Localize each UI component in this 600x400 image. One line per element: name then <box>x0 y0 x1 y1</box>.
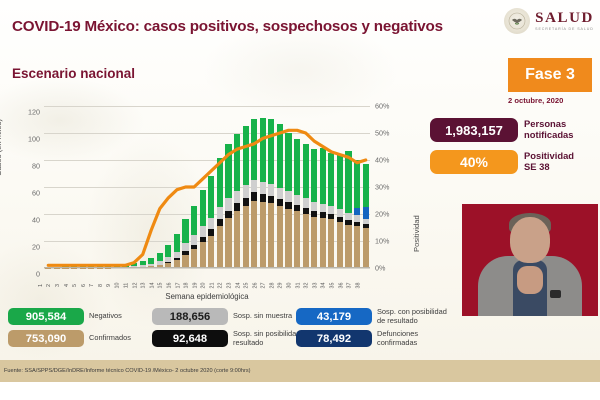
x-axis-title: Semana epidemiológica <box>44 292 370 301</box>
stacked-bar[interactable] <box>182 219 188 268</box>
bar-segment <box>294 211 300 268</box>
stacked-bar[interactable] <box>157 252 163 268</box>
bar-segment <box>260 182 266 194</box>
stacked-bar[interactable] <box>234 134 240 268</box>
bar-segment <box>260 202 266 268</box>
interpreter-hands <box>517 266 543 294</box>
bar-segment <box>174 234 180 252</box>
stacked-bar[interactable] <box>208 176 214 268</box>
stat-label: Negativos <box>89 312 122 321</box>
summary-stats: 905,584Negativos753,090Confirmados188,65… <box>0 306 452 358</box>
source-footer: Fuente: SSA/SPPS/DGE/InDRE/Informe técni… <box>0 360 600 382</box>
stacked-bar[interactable] <box>200 190 206 268</box>
stacked-bar[interactable] <box>225 144 231 268</box>
sign-language-interpreter-video[interactable] <box>462 204 598 316</box>
bar-slot <box>181 106 190 268</box>
bar-segment <box>217 219 223 226</box>
bar-segment <box>243 126 249 185</box>
logo-subtitle: SECRETARÍA DE SALUD <box>535 28 594 32</box>
bar-slot <box>190 106 199 268</box>
source-text: Fuente: SSA/SPPS/DGE/InDRE/Informe técni… <box>0 368 251 374</box>
bar-slot <box>258 106 267 268</box>
stat-label: Defunciones confirmadas <box>377 330 452 347</box>
stacked-bar[interactable] <box>354 160 360 268</box>
stacked-bar[interactable] <box>251 119 257 268</box>
bar-segment <box>285 133 291 191</box>
stacked-bar[interactable] <box>277 124 283 268</box>
bar-segment <box>354 226 360 268</box>
plot-area <box>44 106 370 268</box>
kpi-label: Personas notificadas <box>524 119 574 140</box>
interpreter-head <box>510 217 550 263</box>
y2-tick-label: 0% <box>375 264 385 273</box>
bar-slot <box>361 106 370 268</box>
bar-segment <box>217 158 223 207</box>
y2-tick-label: 40% <box>375 156 389 165</box>
bar-segment <box>294 195 300 205</box>
bar-slot <box>353 106 362 268</box>
y-tick-label: 40 <box>32 216 40 225</box>
bar-slot <box>113 106 122 268</box>
kpi-value: 40% <box>430 150 518 174</box>
bar-slot <box>241 106 250 268</box>
slide-root: COVID-19 México: casos positivos, sospec… <box>0 0 600 400</box>
stacked-bar[interactable] <box>243 126 249 268</box>
stat-item: 43,179Sosp. con posibilidad de resultado <box>296 308 452 325</box>
bar-segment <box>303 198 309 208</box>
logo-wordmark: SALUD <box>535 11 594 26</box>
bar-segment <box>345 213 351 220</box>
bar-segment <box>320 204 326 213</box>
interpreter-watch <box>550 290 561 298</box>
stacked-bar[interactable] <box>285 133 291 268</box>
bar-slot <box>78 106 87 268</box>
bar-slot <box>293 106 302 268</box>
stat-value: 78,492 <box>296 330 372 347</box>
bar-slot <box>138 106 147 268</box>
bar-segment <box>268 119 274 184</box>
kpi-label: Positividad SE 38 <box>524 151 574 172</box>
covid-chart: 020406080100120 Casos (en miles) 0%10%20… <box>8 100 420 300</box>
bar-segment <box>345 151 351 213</box>
stacked-bar[interactable] <box>268 119 274 268</box>
bar-slot <box>173 106 182 268</box>
bar-series-container <box>44 106 370 268</box>
bar-slot <box>224 106 233 268</box>
bar-segment <box>217 226 223 268</box>
bar-segment <box>200 190 206 226</box>
bar-segment <box>303 144 309 198</box>
y-tick-label: 60 <box>32 189 40 198</box>
bar-slot <box>87 106 96 268</box>
mexican-eagle-emblem-icon <box>504 8 530 34</box>
bar-segment <box>311 149 317 202</box>
y-axis-left-title: Casos (en miles) <box>0 119 3 176</box>
y-axis-left-labels: 020406080100120 <box>8 106 40 268</box>
bar-segment <box>217 207 223 219</box>
x-tick-label: 38 <box>355 283 376 289</box>
bar-slot <box>61 106 70 268</box>
bar-segment <box>268 196 274 204</box>
gridline <box>44 268 370 269</box>
bar-segment <box>234 203 240 211</box>
bar-slot <box>44 106 53 268</box>
bar-segment <box>285 209 291 268</box>
y-tick-label: 0 <box>36 270 40 279</box>
bar-segment <box>328 206 334 214</box>
y-tick-label: 120 <box>28 108 40 117</box>
kpi-label-line2: SE 38 <box>524 162 574 173</box>
fase-badge: Fase 3 <box>508 58 592 92</box>
bar-segment <box>208 218 214 230</box>
bar-slot <box>147 106 156 268</box>
bar-segment <box>363 164 369 207</box>
bar-segment <box>294 139 300 194</box>
bar-segment <box>243 198 249 206</box>
stat-item: 78,492Defunciones confirmadas <box>296 330 452 347</box>
bar-slot <box>327 106 336 268</box>
bar-segment <box>320 218 326 268</box>
bar-segment <box>182 219 188 243</box>
salud-logo: SALUD SECRETARÍA DE SALUD <box>504 8 594 34</box>
stat-item: 92,648Sosp. sin posibilidad de resultado <box>152 330 311 347</box>
page-title: COVID-19 México: casos positivos, sospec… <box>12 18 452 35</box>
stat-item: 188,656Sosp. sin muestra <box>152 308 292 325</box>
bar-segment <box>337 209 343 217</box>
bar-slot <box>250 106 259 268</box>
bar-slot <box>319 106 328 268</box>
bar-segment <box>208 236 214 268</box>
bar-segment <box>337 222 343 268</box>
stacked-bar[interactable] <box>337 155 343 268</box>
bar-segment <box>363 207 369 219</box>
bar-slot <box>207 106 216 268</box>
bar-slot <box>53 106 62 268</box>
stacked-bar[interactable] <box>303 144 309 268</box>
bar-segment <box>200 226 206 237</box>
bar-slot <box>104 106 113 268</box>
bar-slot <box>267 106 276 268</box>
bar-segment <box>268 203 274 268</box>
stat-label: Sosp. sin muestra <box>233 312 292 321</box>
bar-slot <box>70 106 79 268</box>
bar-segment <box>251 192 257 200</box>
bar-segment <box>225 211 231 219</box>
stacked-bar[interactable] <box>363 164 369 268</box>
y-axis-right-title: Positividad <box>412 215 421 252</box>
bar-segment <box>243 185 249 198</box>
stacked-bar[interactable] <box>260 118 266 268</box>
bar-segment <box>337 155 343 209</box>
x-axis-line <box>44 267 370 268</box>
kpi-positividad: 40% Positividad SE 38 <box>430 150 574 174</box>
bar-slot <box>276 106 285 268</box>
bar-segment <box>285 202 291 209</box>
stacked-bar[interactable] <box>191 206 197 268</box>
bar-segment <box>311 202 317 211</box>
stat-value: 753,090 <box>8 330 84 347</box>
bar-segment <box>234 191 240 204</box>
y2-tick-label: 30% <box>375 183 389 192</box>
bar-segment <box>200 242 206 268</box>
bar-slot <box>233 106 242 268</box>
stat-value: 188,656 <box>152 308 228 325</box>
bar-segment <box>234 134 240 191</box>
bar-segment <box>303 214 309 268</box>
bar-slot <box>130 106 139 268</box>
y2-tick-label: 20% <box>375 210 389 219</box>
bar-segment <box>251 180 257 192</box>
stacked-bar[interactable] <box>294 139 300 268</box>
y-tick-label: 80 <box>32 162 40 171</box>
stacked-bar[interactable] <box>174 234 180 268</box>
stat-value: 905,584 <box>8 308 84 325</box>
bar-segment <box>363 228 369 269</box>
bar-segment <box>311 217 317 268</box>
bar-segment <box>157 253 163 262</box>
y2-tick-label: 10% <box>375 237 389 246</box>
bar-segment <box>260 118 266 181</box>
stacked-bar[interactable] <box>165 245 171 268</box>
stat-item: 753,090Confirmados <box>8 330 131 347</box>
bar-segment <box>277 124 283 187</box>
bar-segment <box>251 201 257 269</box>
bar-slot <box>301 106 310 268</box>
bar-slot <box>216 106 225 268</box>
report-date: 2 octubre, 2020 <box>508 96 592 105</box>
bar-segment <box>243 206 249 268</box>
bar-segment <box>328 219 334 268</box>
bar-segment <box>225 144 231 198</box>
bar-segment <box>345 225 351 268</box>
bar-segment <box>260 194 266 202</box>
stat-value: 92,648 <box>152 330 228 347</box>
bar-segment <box>354 160 360 209</box>
y-axis-right-labels: 0%10%20%30%40%50%60% <box>372 106 400 268</box>
bar-slot <box>164 106 173 268</box>
bar-segment <box>191 206 197 236</box>
bar-segment <box>277 199 283 206</box>
bar-slot <box>284 106 293 268</box>
kpi-value: 1,983,157 <box>430 118 518 142</box>
bar-segment <box>354 208 360 215</box>
bar-slot <box>156 106 165 268</box>
bar-slot <box>95 106 104 268</box>
bar-slot <box>344 106 353 268</box>
stat-label: Sosp. con posibilidad de resultado <box>377 308 452 325</box>
y2-tick-label: 50% <box>375 129 389 138</box>
bar-segment <box>208 176 214 218</box>
stacked-bar[interactable] <box>311 149 317 268</box>
y-tick-label: 100 <box>28 135 40 144</box>
bar-slot <box>121 106 130 268</box>
stacked-bar[interactable] <box>345 151 351 268</box>
bar-segment <box>277 188 283 199</box>
bar-segment <box>225 218 231 268</box>
y2-tick-label: 60% <box>375 102 389 111</box>
stat-item: 905,584Negativos <box>8 308 122 325</box>
bar-segment <box>191 249 197 268</box>
bar-segment <box>328 153 334 206</box>
section-subtitle: Escenario nacional <box>12 66 135 81</box>
bar-segment <box>182 243 188 251</box>
stacked-bar[interactable] <box>328 153 334 268</box>
bar-slot <box>336 106 345 268</box>
bar-segment <box>165 245 171 258</box>
bar-segment <box>285 191 291 202</box>
bar-segment <box>234 211 240 268</box>
bar-segment <box>182 255 188 269</box>
bar-segment <box>225 198 231 210</box>
stacked-bar[interactable] <box>217 158 223 268</box>
bar-segment <box>191 235 197 244</box>
kpi-label-line2: notificadas <box>524 130 574 141</box>
kpi-personas-notificadas: 1,983,157 Personas notificadas <box>430 118 574 142</box>
stat-label: Confirmados <box>89 334 131 343</box>
footer-spacer <box>0 382 600 400</box>
bar-slot <box>198 106 207 268</box>
bar-segment <box>277 206 283 268</box>
stacked-bar[interactable] <box>320 148 326 268</box>
bar-slot <box>310 106 319 268</box>
bar-segment <box>320 148 326 203</box>
bar-segment <box>268 184 274 196</box>
y-tick-label: 20 <box>32 243 40 252</box>
stat-value: 43,179 <box>296 308 372 325</box>
bar-segment <box>251 119 257 180</box>
